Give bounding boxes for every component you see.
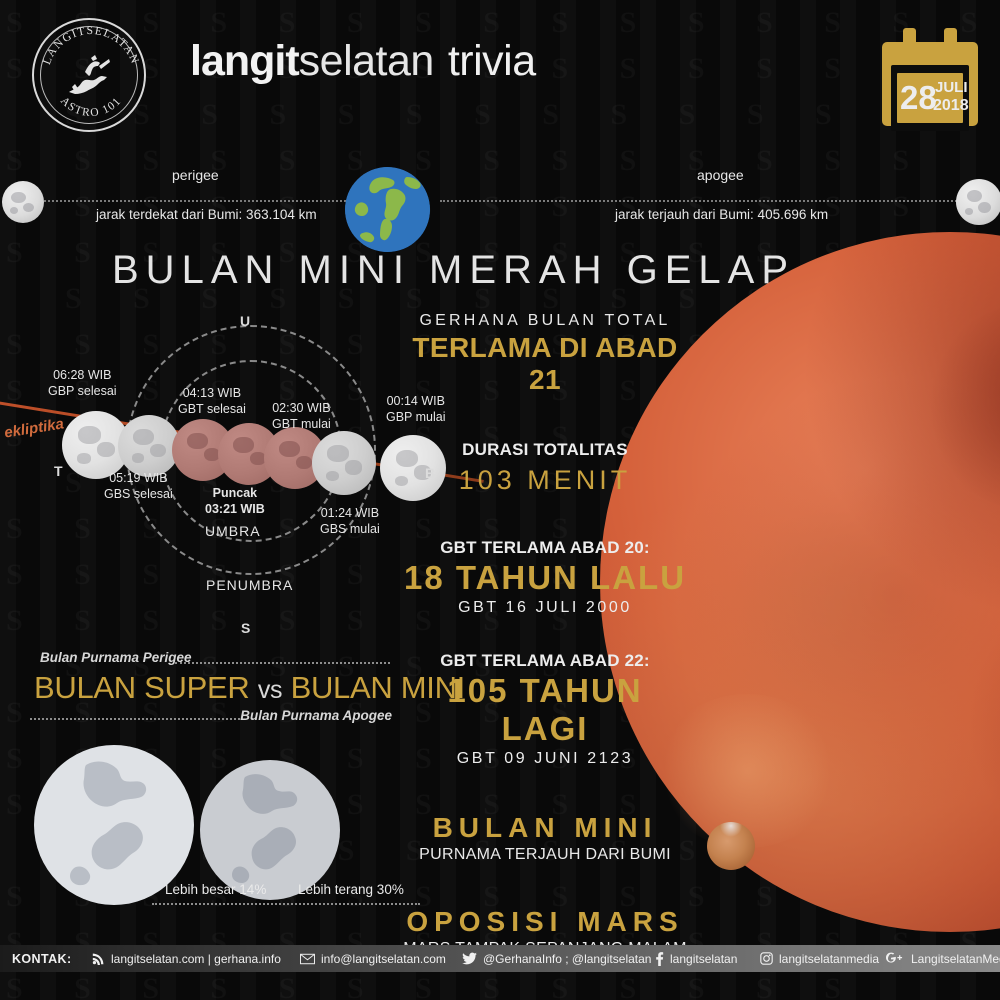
instagram-icon xyxy=(760,952,773,965)
apogee-label: apogee xyxy=(697,167,744,183)
stat-block-mini-moon: BULAN MINI PURNAMA TERJAUH DARI BUMI xyxy=(400,812,690,864)
callout-event: GBT selesai xyxy=(178,402,246,416)
title-vs: vs xyxy=(258,676,282,704)
stat-value: 103 MENIT xyxy=(400,465,690,496)
stat-kicker: GERHANA BULAN TOTAL xyxy=(400,312,690,330)
umbra-label: UMBRA xyxy=(205,523,261,539)
orbit-dotted-line-left xyxy=(44,200,354,202)
footer-item-email[interactable]: info@langitselatan.com xyxy=(300,945,446,972)
super-moon-illustration xyxy=(34,745,194,905)
callout-gbs-selesai: 05:19 WIB GBS selesai xyxy=(104,470,173,502)
brand-title: langitselatantrivia xyxy=(190,36,536,86)
diagram-point-S: S xyxy=(241,620,250,636)
stats-column: GERHANA BULAN TOTAL TERLAMA DI ABAD 21 D… xyxy=(400,312,690,958)
diagram-point-T: T xyxy=(54,463,63,479)
peak-title: Puncak xyxy=(213,486,257,500)
callout-gbs-mulai: 01:24 WIB GBS mulai xyxy=(320,505,380,537)
stat-kicker: GBT TERLAMA ABAD 20: xyxy=(400,538,690,558)
top-dotted-rule xyxy=(175,662,390,664)
stat-block-century22: GBT TERLAMA ABAD 22: 105 TAHUN LAGI GBT … xyxy=(400,651,690,768)
callout-time: 04:13 WIB xyxy=(183,386,241,400)
title-super: BULAN SUPER xyxy=(34,670,250,705)
callout-event: GBP selesai xyxy=(48,384,117,398)
footer-item-facebook[interactable]: langitselatan xyxy=(655,945,737,972)
stat-block-century20: GBT TERLAMA ABAD 20: 18 TAHUN LALU GBT 1… xyxy=(400,538,690,617)
perigee-label: perigee xyxy=(172,167,219,183)
stat-detail: GBT 16 JULI 2000 xyxy=(400,599,690,617)
peak-time: 03:21 WIB xyxy=(205,502,265,516)
comparison-dotted-rule xyxy=(152,903,420,905)
mini-moon-maria xyxy=(200,760,340,900)
footer-item-googleplus[interactable]: LangitselatanMedia xyxy=(885,945,1000,972)
calendar-date-plate: 28 JULI 2018 xyxy=(897,73,963,123)
footer-item-website[interactable]: langitselatan.com | gerhana.info xyxy=(92,945,281,972)
caption-bigger: Lebih besar 14% xyxy=(165,882,266,897)
footer-item-text: langitselatan xyxy=(670,952,737,966)
bottom-dotted-rule xyxy=(30,718,240,720)
calendar-screen: 28 JULI 2018 xyxy=(891,65,969,131)
stat-value: 18 TAHUN LALU xyxy=(400,559,690,597)
facebook-icon xyxy=(655,952,664,966)
callout-time: 06:28 WIB xyxy=(53,368,111,382)
brand-bold: langit xyxy=(190,37,299,85)
stat-detail: GBT 09 JUNI 2123 xyxy=(400,750,690,768)
full-moon-icon-perigee xyxy=(2,181,44,223)
footer-item-text: langitselatanmedia xyxy=(779,952,879,966)
langitselatan-seal-logo[interactable]: LANGITSELATAN ASTRO 101 xyxy=(32,18,146,132)
calendar-day: 28 xyxy=(900,81,937,114)
super-vs-mini-moon-section: Bulan Purnama Perigee BULAN SUPER vs BUL… xyxy=(0,650,430,930)
apogee-detail: jarak terjauh dari Bumi: 405.696 km xyxy=(615,207,828,222)
stat-kicker: GBT TERLAMA ABAD 22: xyxy=(400,651,690,671)
calendar-body: 28 JULI 2018 xyxy=(882,42,978,126)
twitter-icon xyxy=(462,952,477,965)
seal-horseman-emblem xyxy=(61,52,117,98)
google-plus-icon xyxy=(885,952,905,965)
penumbra-label: PENUMBRA xyxy=(206,577,293,593)
earth-globe-icon xyxy=(345,167,430,252)
perigee-apogee-band: perigee jarak terdekat dari Bumi: 363.10… xyxy=(0,155,1000,247)
rss-icon xyxy=(92,952,105,965)
seal-arc-bottom-text: ASTRO 101 xyxy=(58,95,124,119)
apogee-full-moon-label: Bulan Purnama Apogee xyxy=(240,708,392,723)
full-moon-icon-apogee xyxy=(956,179,1000,225)
stat-value: BULAN MINI xyxy=(400,812,690,844)
stat-detail: PURNAMA TERJAUH DARI BUMI xyxy=(400,846,690,864)
callout-gbt-selesai: 04:13 WIB GBT selesai xyxy=(178,385,246,417)
callout-event: GBS selesai xyxy=(104,487,173,501)
caption-brighter: Lebih terang 30% xyxy=(298,882,404,897)
callout-time: 01:24 WIB xyxy=(321,506,379,520)
perigee-full-moon-label: Bulan Purnama Perigee xyxy=(40,650,192,665)
callout-event: GBT mulai xyxy=(272,417,331,431)
peak-label: Puncak 03:21 WIB xyxy=(205,485,265,517)
calendar-year: 2018 xyxy=(933,97,969,114)
envelope-icon xyxy=(300,953,315,965)
phase-moon-gbs-selesai xyxy=(118,415,180,477)
callout-event: GBS mulai xyxy=(320,522,380,536)
callout-gbp-selesai: 06:28 WIB GBP selesai xyxy=(48,367,117,399)
callout-time: 02:30 WIB xyxy=(272,401,330,415)
calendar-icon: 28 JULI 2018 xyxy=(882,28,978,126)
header: LANGITSELATAN ASTRO 101 langitselatantri… xyxy=(0,0,1000,150)
stat-block-totality-duration: DURASI TOTALITAS 103 MENIT xyxy=(400,440,690,496)
perigee-detail: jarak terdekat dari Bumi: 363.104 km xyxy=(96,207,317,222)
footer-item-instagram[interactable]: langitselatanmedia xyxy=(760,945,879,972)
phase-moon-gbs-mulai xyxy=(312,431,376,495)
stat-value: OPOSISI MARS xyxy=(400,906,690,938)
brand-suffix: trivia xyxy=(448,37,536,85)
ecliptic-label: ekliptika xyxy=(3,415,65,441)
contact-footer-bar: KONTAK: langitselatan.com | gerhana.info… xyxy=(0,945,1000,972)
stat-value: TERLAMA DI ABAD 21 xyxy=(400,332,690,396)
stat-block-longest-century21: GERHANA BULAN TOTAL TERLAMA DI ABAD 21 xyxy=(400,312,690,396)
stat-kicker: DURASI TOTALITAS xyxy=(400,440,690,460)
mini-moon-illustration xyxy=(200,760,340,900)
super-moon-maria xyxy=(34,745,194,905)
footer-item-text: @GerhanaInfo ; @langitselatan xyxy=(483,952,651,966)
diagram-point-U: U xyxy=(240,313,250,329)
footer-item-text: info@langitselatan.com xyxy=(321,952,446,966)
orbit-dotted-line-right xyxy=(440,200,980,202)
infographic-canvas: S S S S S S S S S S S S S S S S S S S S … xyxy=(0,0,1000,1000)
calendar-month: JULI xyxy=(935,80,968,96)
footer-item-text: langitselatan.com | gerhana.info xyxy=(111,952,281,966)
callout-time: 05:19 WIB xyxy=(109,471,167,485)
footer-item-text: LangitselatanMedia xyxy=(911,952,1000,966)
brand-light: selatan xyxy=(299,37,434,85)
stat-value: 105 TAHUN LAGI xyxy=(400,672,690,748)
callout-gbt-mulai: 02:30 WIB GBT mulai xyxy=(272,400,331,432)
mars-planet-icon xyxy=(707,822,755,870)
contact-label: KONTAK: xyxy=(12,945,72,972)
earth-continents xyxy=(345,167,430,252)
footer-item-twitter[interactable]: @GerhanaInfo ; @langitselatan xyxy=(462,945,651,972)
page-title: BULAN MINI MERAH GELAP xyxy=(112,248,795,293)
